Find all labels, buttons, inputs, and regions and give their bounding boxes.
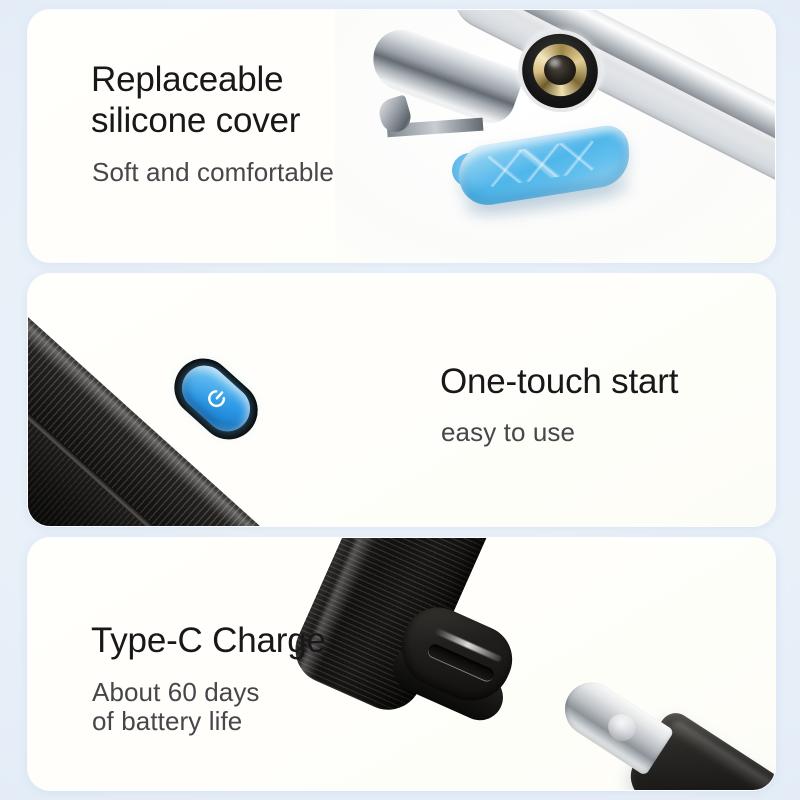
panel-subline: About 60 days of battery life — [92, 678, 260, 736]
feature-panel-stack: Replaceable silicone cover Soft and comf… — [0, 0, 800, 800]
panel-subline: easy to use — [441, 418, 575, 447]
feature-panel-silicone-cover: Replaceable silicone cover Soft and comf… — [28, 10, 775, 262]
panel-headline: One-touch start — [440, 362, 678, 403]
panel-headline: Replaceable silicone cover — [91, 60, 300, 142]
power-symbol-icon — [200, 382, 232, 414]
panel-subline: Soft and comfortable — [92, 158, 334, 187]
panel-headline: Type-C Charge — [91, 621, 326, 662]
camera-lens-specular — [549, 58, 560, 67]
feature-panel-one-touch-start: One-touch start easy to use — [28, 274, 775, 526]
type-c-charge-illustration — [28, 538, 775, 790]
feature-panel-type-c-charge: Type-C Charge About 60 days of battery l… — [28, 538, 775, 790]
